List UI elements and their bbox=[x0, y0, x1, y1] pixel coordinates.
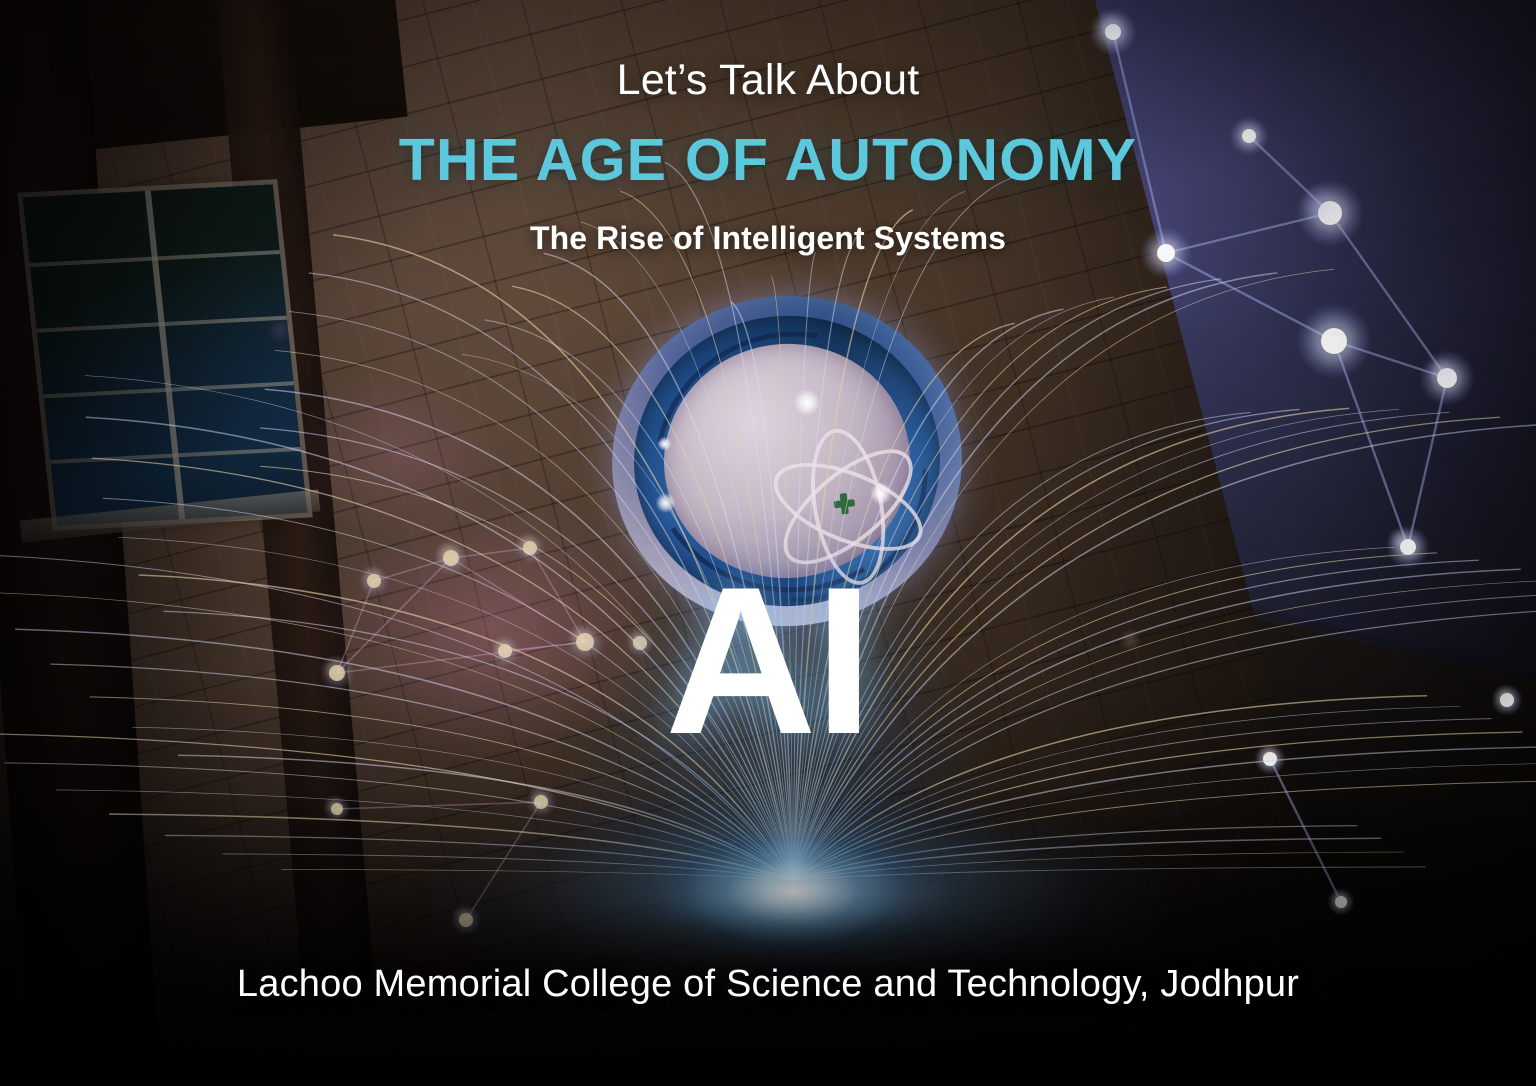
subtitle-text: The Rise of Intelligent Systems bbox=[0, 220, 1536, 257]
institution-name: Lachoo Memorial College of Science and T… bbox=[0, 963, 1536, 1006]
kicker-text: Let’s Talk About bbox=[0, 56, 1536, 105]
ai-wordmark: AI bbox=[0, 556, 1536, 766]
slide-text-block: Let’s Talk About THE AGE OF AUTONOMY The… bbox=[0, 0, 1536, 1086]
presentation-slide: Let’s Talk About THE AGE OF AUTONOMY The… bbox=[0, 0, 1536, 1086]
page-title: THE AGE OF AUTONOMY bbox=[0, 126, 1536, 194]
